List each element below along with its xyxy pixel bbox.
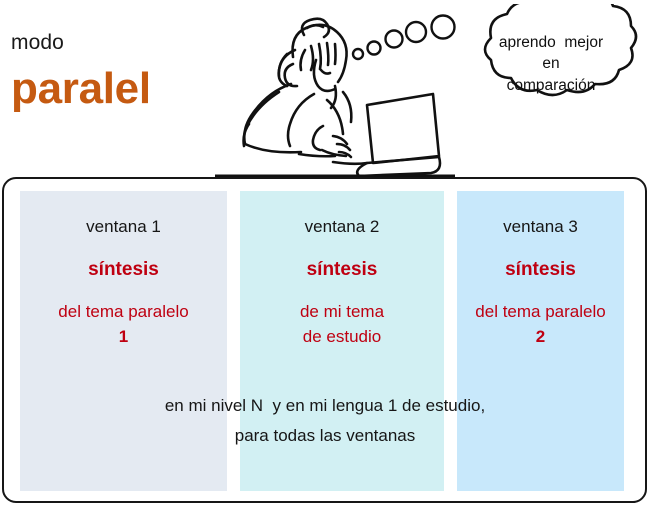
column-2-title: ventana 2 <box>240 217 444 237</box>
columns-row: ventana 1 síntesis del tema paralelo 1 v… <box>20 191 630 491</box>
column-3-emphasis: 2 <box>457 325 624 350</box>
column-1-emphasis: 1 <box>20 325 227 350</box>
window-column-3[interactable]: ventana 3 síntesis del tema paralelo 2 <box>457 191 624 491</box>
column-2-description: de mi tema <box>300 302 384 321</box>
window-column-1[interactable]: ventana 1 síntesis del tema paralelo 1 <box>20 191 227 491</box>
column-3-description: del tema paralelo <box>475 302 605 321</box>
mode-label: modo <box>11 32 64 53</box>
window-column-2[interactable]: ventana 2 síntesis de mi tema de estudio <box>240 191 444 491</box>
column-2-synthesis: síntesis <box>240 259 444 282</box>
diagram-box: ventana 1 síntesis del tema paralelo 1 v… <box>2 177 647 503</box>
column-1-synthesis: síntesis <box>20 259 227 282</box>
thought-dots <box>350 10 460 65</box>
column-1-title: ventana 1 <box>20 217 227 237</box>
mode-name: paralel <box>11 67 151 111</box>
column-3-title: ventana 3 <box>457 217 624 237</box>
column-3-synthesis: síntesis <box>457 259 624 282</box>
column-1-description: del tema paralelo <box>58 302 188 321</box>
column-2-emphasis: de estudio <box>240 325 444 350</box>
thought-bubble: aprendo mejor en comparación <box>447 4 655 124</box>
